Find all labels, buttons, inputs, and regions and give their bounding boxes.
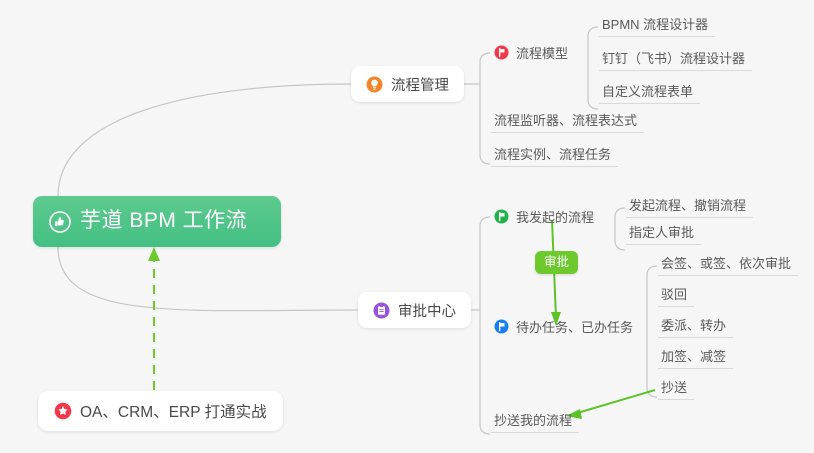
node-my-initiated-process[interactable]: 我发起的流程 bbox=[491, 203, 601, 230]
node-label: 流程模型 bbox=[516, 43, 568, 62]
node-start-cancel-process[interactable]: 发起流程、撤销流程 bbox=[626, 191, 753, 218]
footnote-card[interactable]: OA、CRM、ERP 打通实战 bbox=[38, 391, 283, 431]
branch-process-management[interactable]: 流程管理 bbox=[351, 66, 464, 102]
node-label: 指定人审批 bbox=[629, 222, 694, 241]
node-label: 会签、或签、依次审批 bbox=[661, 253, 791, 272]
lightbulb-icon bbox=[366, 76, 383, 93]
node-bpmn-designer[interactable]: BPMN 流程设计器 bbox=[599, 10, 715, 37]
flag-circle-icon bbox=[494, 319, 509, 334]
node-custom-process-form[interactable]: 自定义流程表单 bbox=[599, 77, 700, 104]
node-process-instance-task[interactable]: 流程实例、流程任务 bbox=[491, 140, 618, 167]
cc-arrow bbox=[574, 390, 655, 414]
bracket-ac-bottom bbox=[480, 425, 490, 434]
mindmap-canvas: 芋道 BPM 工作流 流程管理 流程模型 BPMN 流程设计器 钉钉（飞书）流程 bbox=[0, 0, 814, 453]
branch-label: 流程管理 bbox=[391, 74, 449, 95]
node-label: 抄送 bbox=[661, 377, 687, 396]
root-label: 芋道 BPM 工作流 bbox=[80, 210, 247, 233]
node-label: 钉钉（飞书）流程设计器 bbox=[602, 48, 745, 67]
footnote-arrow-head bbox=[148, 247, 160, 261]
node-label: BPMN 流程设计器 bbox=[602, 14, 708, 33]
node-process-model[interactable]: 流程模型 bbox=[491, 39, 575, 66]
node-label: 发起流程、撤销流程 bbox=[629, 195, 746, 214]
node-label: 待办任务、已办任务 bbox=[516, 317, 633, 336]
star-circle-icon bbox=[54, 402, 72, 420]
node-reject[interactable]: 驳回 bbox=[658, 280, 694, 307]
bracket-pm-bottom bbox=[480, 155, 490, 164]
bracket-todo-top bbox=[647, 266, 657, 275]
bracket-todo-bottom bbox=[647, 388, 657, 397]
bracket-pmodel-top bbox=[588, 27, 598, 36]
node-dingtalk-feishu-designer[interactable]: 钉钉（飞书）流程设计器 bbox=[599, 44, 752, 71]
clipboard-icon bbox=[373, 302, 390, 319]
bracket-pm-top bbox=[480, 53, 490, 62]
branch-approval-center[interactable]: 审批中心 bbox=[358, 292, 471, 328]
footnote-label: OA、CRM、ERP 打通实战 bbox=[80, 400, 267, 422]
node-label: 加签、减签 bbox=[661, 346, 726, 365]
node-designated-approver[interactable]: 指定人审批 bbox=[626, 218, 701, 245]
node-countersign-or-sign-sequential[interactable]: 会签、或签、依次审批 bbox=[658, 249, 798, 276]
link-root-to-process-management bbox=[58, 84, 351, 196]
node-cc[interactable]: 抄送 bbox=[658, 373, 694, 400]
node-label: 驳回 bbox=[661, 284, 687, 303]
node-todo-done-tasks[interactable]: 待办任务、已办任务 bbox=[491, 313, 640, 340]
bracket-mine-top bbox=[615, 208, 625, 217]
node-label: 流程监听器、流程表达式 bbox=[494, 110, 637, 129]
node-label: 我发起的流程 bbox=[516, 207, 594, 226]
branch-label: 审批中心 bbox=[398, 300, 456, 321]
root-node[interactable]: 芋道 BPM 工作流 bbox=[33, 196, 281, 247]
bracket-ac-top bbox=[480, 217, 490, 226]
node-label: 抄送我的流程 bbox=[494, 410, 572, 429]
thumbs-up-icon bbox=[49, 211, 71, 233]
node-add-remove-sign[interactable]: 加签、减签 bbox=[658, 342, 733, 369]
node-delegate-transfer[interactable]: 委派、转办 bbox=[658, 311, 733, 338]
node-process-listener-expression[interactable]: 流程监听器、流程表达式 bbox=[491, 106, 644, 133]
flag-circle-icon bbox=[494, 45, 509, 60]
approval-chip-label: 审批 bbox=[544, 255, 569, 269]
bracket-mine-bottom bbox=[615, 241, 625, 250]
link-root-to-approval-center bbox=[58, 247, 358, 311]
node-cc-to-me-process[interactable]: 抄送我的流程 bbox=[491, 406, 579, 433]
node-label: 委派、转办 bbox=[661, 315, 726, 334]
approval-chip: 审批 bbox=[535, 251, 578, 274]
flag-circle-icon bbox=[494, 209, 509, 224]
node-label: 流程实例、流程任务 bbox=[494, 144, 611, 163]
node-label: 自定义流程表单 bbox=[602, 81, 693, 100]
